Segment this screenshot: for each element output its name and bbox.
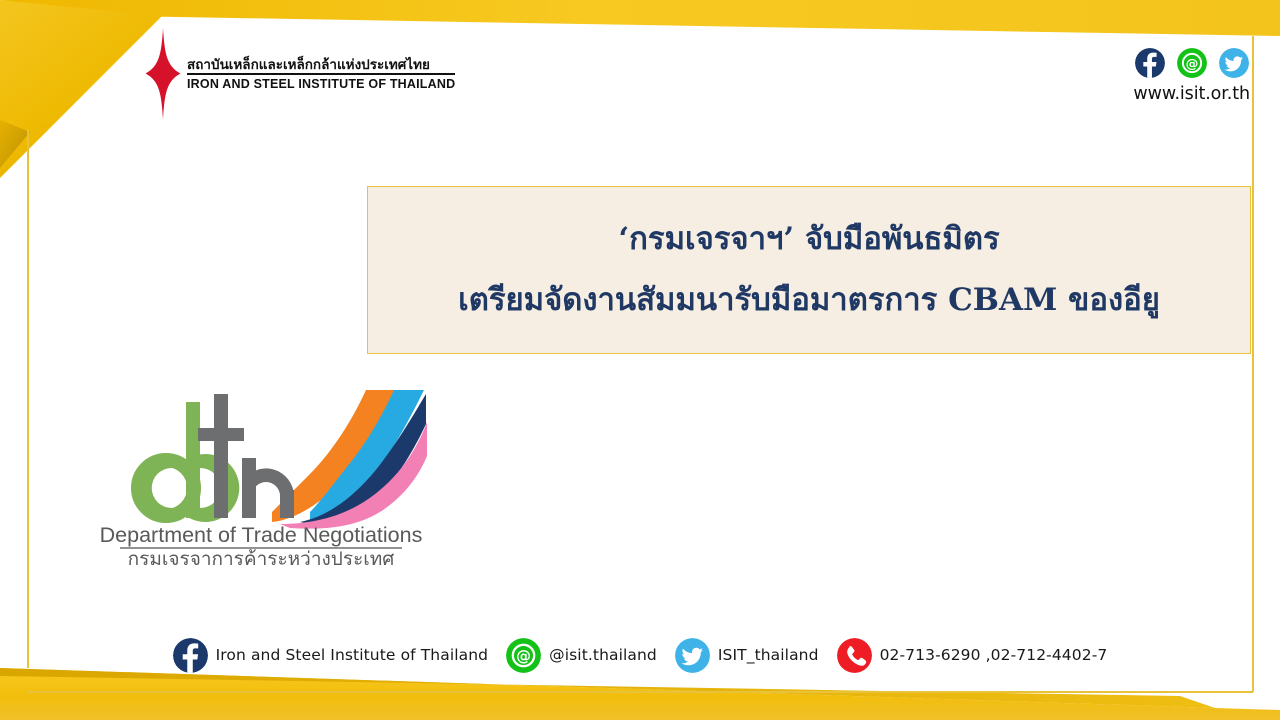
footer-contact-bar: Iron and Steel Institute of Thailand @ @… bbox=[0, 634, 1280, 676]
slide-canvas: สถาบันเหล็กและเหล็กกล้าแห่งประเทศไทย IRO… bbox=[0, 0, 1280, 720]
frame-line-bottom bbox=[27, 691, 1253, 693]
footer-item-twitter[interactable]: ISIT_thailand bbox=[675, 638, 819, 673]
isit-name-english: IRON AND STEEL INSTITUTE OF THAILAND bbox=[187, 78, 455, 91]
footer-label-twitter: ISIT_thailand bbox=[718, 646, 819, 664]
isit-wordmark: สถาบันเหล็กและเหล็กกล้าแห่งประเทศไทย IRO… bbox=[187, 58, 455, 91]
footer-item-phone[interactable]: 02-713-6290 ,02-712-4402-7 bbox=[837, 638, 1108, 673]
dtn-logo: Department of Trade Negotiations กรมเจรจ… bbox=[94, 372, 429, 567]
line-icon[interactable]: @ bbox=[1177, 48, 1207, 78]
footer-label-line: @isit.thailand bbox=[549, 646, 657, 664]
twitter-icon[interactable] bbox=[675, 638, 710, 673]
dtn-caption-thai: กรมเจรจาการค้าระหว่างประเทศ bbox=[128, 548, 395, 567]
dtn-caption-english: Department of Trade Negotiations bbox=[100, 523, 423, 547]
facebook-icon[interactable] bbox=[173, 638, 208, 673]
header-social-block: @ www.isit.or.th bbox=[1133, 48, 1250, 104]
frame-line-left bbox=[27, 130, 29, 668]
line-icon[interactable]: @ bbox=[506, 638, 541, 673]
headline-box: ‘กรมเจรจาฯ’ จับมือพันธมิตร เตรียมจัดงานส… bbox=[367, 186, 1251, 354]
isit-name-thai: สถาบันเหล็กและเหล็กกล้าแห่งประเทศไทย bbox=[187, 58, 455, 72]
footer-label-facebook: Iron and Steel Institute of Thailand bbox=[216, 646, 488, 664]
footer-item-line[interactable]: @ @isit.thailand bbox=[506, 638, 657, 673]
twitter-icon[interactable] bbox=[1219, 48, 1249, 78]
headline-line-1: ‘กรมเจรจาฯ’ จับมือพันธมิตร bbox=[618, 224, 999, 255]
footer-label-phone: 02-713-6290 ,02-712-4402-7 bbox=[880, 646, 1108, 664]
headline-line-2: เตรียมจัดงานสัมมนารับมือมาตรการ CBAM ของ… bbox=[458, 285, 1160, 316]
phone-icon[interactable] bbox=[837, 638, 872, 673]
frame-line-right bbox=[1252, 36, 1254, 692]
isit-logo[interactable]: สถาบันเหล็กและเหล็กกล้าแห่งประเทศไทย IRO… bbox=[145, 28, 455, 120]
svg-text:@: @ bbox=[1185, 57, 1198, 72]
footer-item-facebook[interactable]: Iron and Steel Institute of Thailand bbox=[173, 638, 488, 673]
website-url[interactable]: www.isit.or.th bbox=[1133, 84, 1250, 104]
isit-divider-rule bbox=[187, 73, 455, 75]
facebook-icon[interactable] bbox=[1135, 48, 1165, 78]
header-social-icons: @ bbox=[1135, 48, 1249, 78]
svg-text:@: @ bbox=[516, 647, 531, 665]
isit-star-icon bbox=[145, 28, 181, 120]
